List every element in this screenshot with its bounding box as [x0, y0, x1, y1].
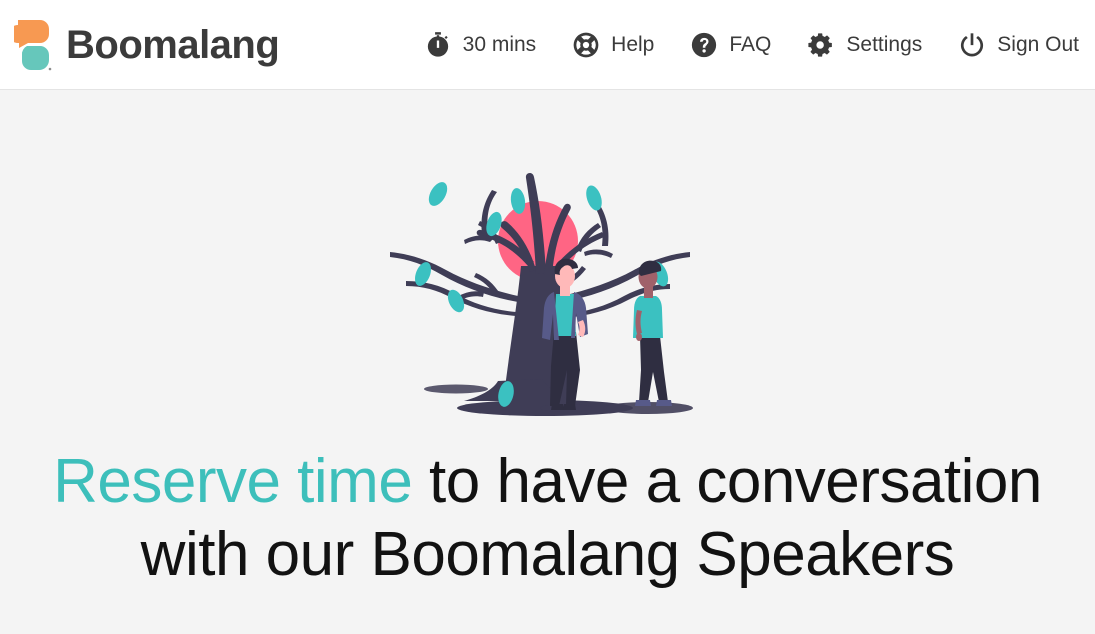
nav-item-session-duration[interactable]: 30 mins [406, 31, 555, 59]
gear-icon [807, 31, 835, 59]
stopwatch-icon [424, 31, 452, 59]
nav-item-faq[interactable]: FAQ [672, 31, 789, 59]
nav-label-faq: FAQ [729, 33, 771, 57]
question-circle-icon [690, 31, 718, 59]
nav-item-settings[interactable]: Settings [789, 31, 940, 59]
nav-label-sign-out: Sign Out [997, 33, 1079, 57]
boomalang-speech-bubbles-logo-icon [14, 18, 52, 72]
main-navigation: 30 mins Help FAQ Set [406, 31, 1081, 59]
nav-label-help: Help [611, 33, 654, 57]
tree-with-two-people-illustration [378, 146, 718, 422]
nav-item-help[interactable]: Help [554, 31, 672, 59]
nav-label-settings: Settings [846, 33, 922, 57]
headline-accent-text: Reserve time [53, 447, 412, 516]
main-content: Reserve time to have a conversation with… [0, 90, 1095, 634]
brand-name: Boomalang [66, 25, 279, 65]
page-headline: Reserve time to have a conversation with… [0, 446, 1095, 591]
nav-label-session-duration: 30 mins [463, 33, 537, 57]
power-icon [958, 31, 986, 59]
nav-item-sign-out[interactable]: Sign Out [940, 31, 1081, 59]
brand-logo[interactable]: Boomalang [14, 18, 279, 72]
life-ring-icon [572, 31, 600, 59]
app-header: Boomalang 30 mins Help [0, 0, 1095, 90]
